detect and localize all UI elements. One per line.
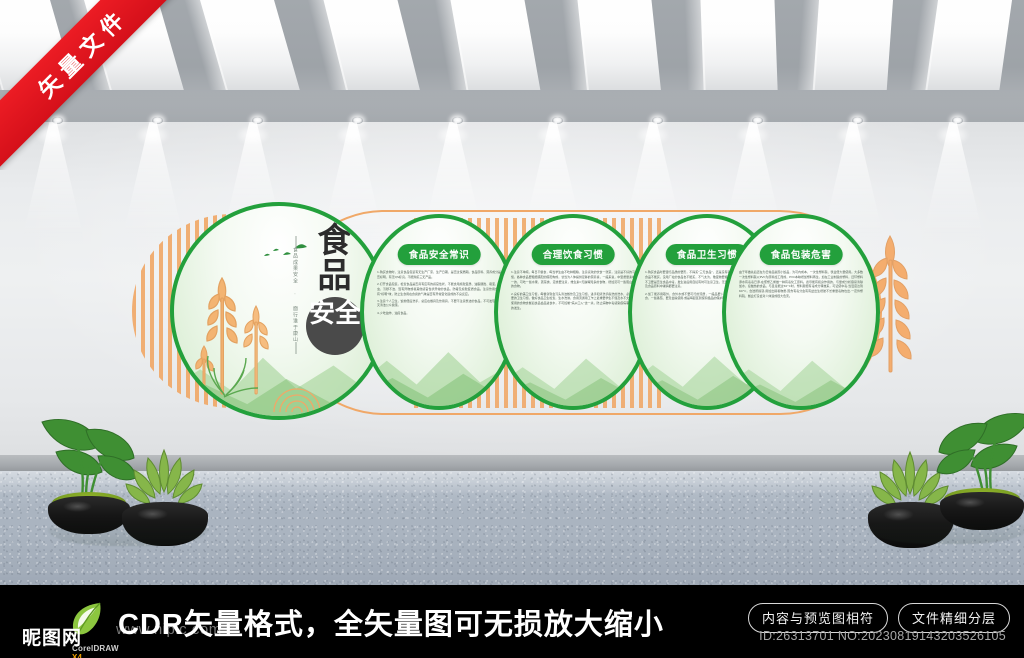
downlight-icon xyxy=(852,117,863,124)
pot-highlight xyxy=(63,501,93,512)
panel-paragraph: 2.良好的美卫生习惯，每餐穿到会污头清洁餐饮及卫生习惯，进手和清洗手指洗的洗水，… xyxy=(511,292,635,311)
nipic-logo[interactable]: 昵图网 CorelDRAW X4 xyxy=(12,597,108,645)
downlight-icon xyxy=(652,117,663,124)
panel-paragraph: 2.打开食品包装，检查食品是否具有应有的感官性状，不能食用腐败变质、油脂酸败、霉… xyxy=(377,282,501,296)
plant-group-right xyxy=(862,404,1024,542)
light-glow xyxy=(638,126,668,144)
panel-heading-2: 合理饮食习惯 xyxy=(532,244,615,265)
panel-heading-1: 食品安全常识 xyxy=(398,244,481,265)
corner-ribbon: 矢量文件 xyxy=(0,0,250,170)
main-title: 食品 安全 xyxy=(304,224,366,355)
ink-hills-decor xyxy=(722,324,880,410)
plant-reflection-right xyxy=(868,518,1024,544)
panel-paragraph: 由于年做先后还在为日常品说因小饭品，为可内成本，一次性塑料碗、筷盒便大量使用。大… xyxy=(739,270,863,299)
content-circle-4[interactable]: 食品包装危害 由于年做先后还在为日常品说因小饭品，为可内成本，一次性塑料碗、筷盒… xyxy=(722,214,880,410)
light-glow xyxy=(738,126,768,144)
ceiling-light-panel xyxy=(813,0,894,90)
ribbon-label: 矢量文件 xyxy=(30,0,135,104)
main-title-badge: 安全 xyxy=(306,297,364,355)
ceiling-light-panel xyxy=(448,0,540,90)
plant-reflection-left xyxy=(48,519,208,546)
main-title-line1: 食品 xyxy=(304,224,366,293)
downlight-icon xyxy=(552,117,563,124)
downlight-icon xyxy=(252,117,263,124)
pot-highlight xyxy=(955,497,985,508)
downlight-icon xyxy=(452,117,463,124)
asset-id-line: ID:26313701 NO:20230819143203526105 xyxy=(759,629,1006,643)
corel-version: X4 xyxy=(72,653,82,658)
panel-body-2: 1.注意不单纯，每日不偏食，每当学生由不吃种粗粮，注意喜欢的饮食一张菜，注意是不… xyxy=(511,270,635,313)
culture-wall-graphic: 食品 安全 食品成果安全 · 面行谁于康山 食品安全常识 1.购买食物时，注意食… xyxy=(122,196,922,431)
panel-paragraph: 1.购买食物时，注意食品包装有无生产厂家、生产日期、是否过保质期。食品原料、营养… xyxy=(377,270,501,280)
plant-group-left xyxy=(26,412,216,542)
panel-paragraph: 3.注意个人卫生，饭前便后洗手，总应在餐具及饮用具，不要不注意整洁的食品，不可发… xyxy=(377,299,501,309)
screenshot-root: 食品 安全 食品成果安全 · 面行谁于康山 食品安全常识 1.购买食物时，注意食… xyxy=(0,0,1024,658)
nipic-logo-text: 昵图网 xyxy=(22,623,82,650)
panel-paragraph: 1.注意不单纯，每日不偏食，每当学生由不吃种粗粮，注意喜欢的饮食一张菜，注意是不… xyxy=(511,270,635,289)
main-subtitle-vertical: 食品成果安全 · 面行谁于康山 xyxy=(291,236,300,354)
watermark-slogan: CDR矢量格式，全矢量图可无损放大缩小 xyxy=(118,601,664,643)
downlight-icon xyxy=(752,117,763,124)
light-glow xyxy=(938,126,968,144)
ink-hills-decor xyxy=(494,324,652,410)
downlight-icon xyxy=(952,117,963,124)
watermark-bar: 昵图网 CorelDRAW X4 www.nipic.com CDR矢量格式，全… xyxy=(0,585,1024,658)
ceiling-light-panel xyxy=(576,0,661,90)
arc-waves-decor xyxy=(260,378,334,412)
light-glow xyxy=(338,126,368,144)
panel-heading-4: 食品包装危害 xyxy=(760,244,843,265)
light-glow xyxy=(538,126,568,144)
ink-hills-decor xyxy=(360,324,518,410)
monstera-plant-icon xyxy=(924,406,1024,498)
main-title-circle: 食品 安全 食品成果安全 · 面行谁于康山 xyxy=(170,202,388,420)
ceiling-light-panel xyxy=(700,0,778,90)
light-glow xyxy=(438,126,468,144)
ribbon-band: 矢量文件 xyxy=(0,0,205,170)
panel-body-1: 1.购买食物时，注意食品包装有无生产厂家、生产日期、是否过保质期。食品原料、营养… xyxy=(377,270,501,318)
light-glow xyxy=(838,126,868,144)
ceiling-light-panel xyxy=(320,0,420,90)
ceiling-light-panel xyxy=(925,0,1014,90)
panel-body-4: 由于年做先后还在为日常品说因小饭品，为可内成本，一次性塑料碗、筷盒便大量使用。大… xyxy=(739,270,863,301)
downlight-icon xyxy=(352,117,363,124)
panel-paragraph: 4.少吃油炸、油煎食品。 xyxy=(377,311,501,316)
